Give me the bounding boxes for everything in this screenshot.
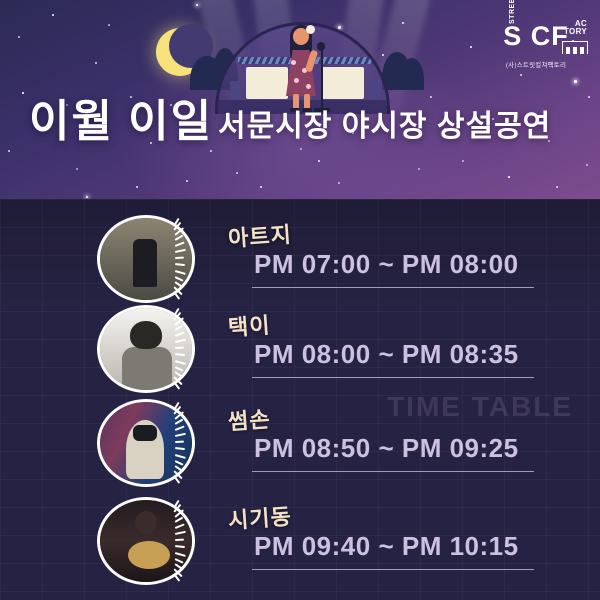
dash-mark [175, 441, 184, 443]
star-icon [236, 172, 238, 174]
star-icon [430, 96, 432, 98]
schedule-row: 아트지PM 07:00 ~ PM 08:00 [0, 213, 600, 305]
row-divider [252, 471, 534, 472]
row-divider [252, 569, 534, 570]
poster-root: S CF STREET AC TORY (사)스트릿컬쳐팩토리 이월 이일 서문… [0, 0, 600, 600]
star-icon [338, 182, 340, 184]
dash-mark [175, 454, 186, 459]
star-icon [588, 96, 590, 98]
dash-mark [175, 270, 186, 275]
radiating-dashes-decoration [171, 309, 209, 389]
dash-mark [175, 353, 185, 356]
star-icon [22, 92, 24, 94]
dash-mark [175, 552, 186, 557]
star-icon [136, 186, 138, 188]
radiating-dashes-decoration [171, 219, 209, 299]
performer-photo-wrapper [97, 215, 205, 303]
star-icon [300, 148, 302, 150]
brick-wall-body: TIME TABLE 아트지PM 07:00 ~ PM 08:00택이PM 08… [0, 199, 600, 600]
dash-mark [175, 248, 186, 252]
dash-mark [174, 331, 184, 336]
dash-mark [174, 523, 184, 528]
page-subtitle: 서문시장 야시장 상설공연 [218, 110, 551, 144]
star-icon [586, 164, 588, 166]
performer-photo-wrapper [97, 497, 205, 585]
star-icon [418, 168, 420, 170]
performer-name: 시기동 [227, 499, 293, 535]
schedule-row: 썸손PM 08:50 ~ PM 09:25 [0, 397, 600, 489]
performer-name: 아트지 [227, 217, 293, 253]
dash-mark [174, 425, 184, 430]
logo-subtitle: (사)스트릿컬쳐팩토리 [484, 59, 588, 69]
dash-mark [175, 530, 186, 534]
star-icon [52, 14, 54, 16]
star-icon [462, 160, 464, 162]
dash-mark [175, 263, 185, 266]
row-divider [252, 287, 534, 288]
dash-mark [175, 360, 186, 365]
bright-star-icon [196, 4, 198, 6]
dash-mark [175, 447, 185, 450]
dash-mark [174, 241, 184, 246]
star-icon [210, 150, 212, 152]
singer-with-mic-icon [278, 20, 332, 110]
header-night-sky: S CF STREET AC TORY (사)스트릿컬쳐팩토리 이월 이일 서문… [0, 0, 600, 199]
page-title: 이월 이일 [29, 98, 213, 146]
performance-time: PM 08:50 ~ PM 09:25 [254, 433, 519, 464]
star-icon [260, 186, 262, 188]
street-factory-logo[interactable]: S CF STREET AC TORY (사)스트릿컬쳐팩토리 [484, 22, 588, 74]
star-icon [108, 24, 110, 26]
dash-mark [175, 257, 184, 259]
performer-name: 썸손 [227, 402, 272, 437]
performance-time: PM 09:40 ~ PM 10:15 [254, 531, 519, 562]
star-icon [508, 176, 510, 178]
star-icon [318, 160, 320, 162]
bright-star-icon [574, 80, 577, 83]
star-icon [186, 180, 188, 182]
star-icon [18, 36, 20, 38]
dash-mark [175, 347, 184, 349]
dash-mark [175, 539, 184, 541]
logo-tory-text: TORY [564, 27, 587, 36]
schedule-row: 택이PM 08:00 ~ PM 08:35 [0, 303, 600, 395]
star-icon [95, 62, 97, 64]
dash-mark [175, 545, 185, 548]
row-divider [252, 377, 534, 378]
star-icon [520, 74, 522, 76]
performer-photo-wrapper [97, 305, 205, 393]
dash-mark [175, 432, 186, 436]
performance-time: PM 07:00 ~ PM 08:00 [254, 249, 519, 280]
radiating-dashes-decoration [171, 501, 209, 581]
factory-building-icon [562, 41, 588, 54]
star-icon [76, 168, 78, 170]
star-icon [556, 186, 558, 188]
radiating-dashes-decoration [171, 403, 209, 483]
star-icon [8, 150, 10, 152]
performer-photo-wrapper [97, 399, 205, 487]
dash-mark [175, 338, 186, 342]
logo-street-text: STREET [509, 0, 516, 24]
schedule-row: 시기동PM 09:40 ~ PM 10:15 [0, 495, 600, 587]
star-icon [470, 46, 472, 48]
performer-name: 택이 [227, 308, 272, 343]
performance-time: PM 08:00 ~ PM 08:35 [254, 339, 519, 370]
